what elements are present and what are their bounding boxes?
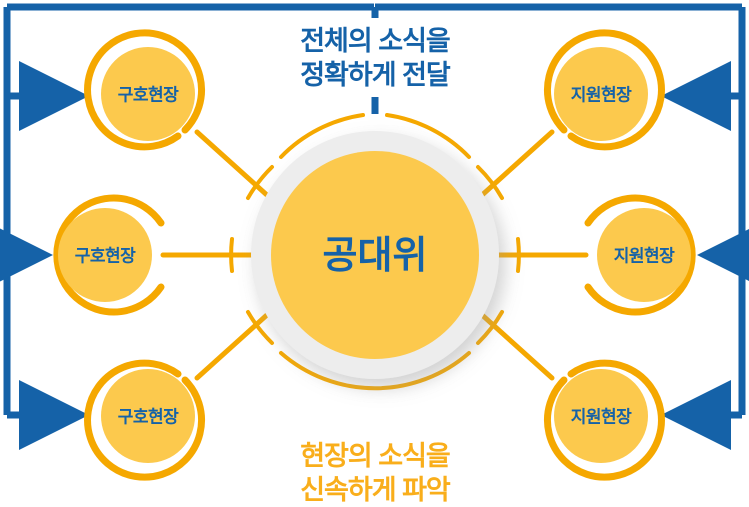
node-left-middle-label: 구호현장: [75, 246, 136, 265]
connector-right-bottom-to-hub: [481, 314, 552, 378]
caption-top-line1: 전체의 소식을: [300, 26, 450, 56]
connector-right-top-to-hub: [481, 132, 552, 196]
caption-top-line2: 정확하게 전달: [300, 60, 451, 90]
node-left-middle[interactable]: 구호현장: [57, 198, 161, 312]
caption-bottom: 현장의 소식을 신속하게 파악: [300, 441, 451, 505]
hub-group[interactable]: 공대위: [231, 115, 519, 388]
node-right-middle[interactable]: 지원현장: [588, 198, 692, 312]
caption-bottom-line1: 현장의 소식을: [300, 441, 450, 471]
diagram-canvas: 공대위 구호현장 구호현장 구호현장 지원현장: [0, 0, 749, 507]
node-left-top[interactable]: 구호현장: [88, 33, 202, 147]
caption-top: 전체의 소식을 정확하게 전달: [300, 26, 451, 90]
diagram-svg: 공대위 구호현장 구호현장 구호현장 지원현장: [0, 0, 749, 507]
hub-label: 공대위: [323, 235, 428, 277]
hub-ring-arc-left: [231, 239, 232, 271]
node-right-bottom[interactable]: 지원현장: [547, 363, 661, 477]
node-left-top-label: 구호현장: [118, 85, 179, 104]
node-right-top-label: 지원현장: [571, 85, 632, 104]
node-right-bottom-label: 지원현장: [571, 407, 632, 426]
node-right-top[interactable]: 지원현장: [547, 33, 661, 147]
caption-bottom-line2: 신속하게 파악: [300, 475, 451, 505]
hub-ring-arc-right: [518, 239, 519, 271]
node-right-middle-label: 지원현장: [614, 246, 675, 265]
node-left-bottom-label: 구호현장: [118, 407, 179, 426]
node-left-bottom[interactable]: 구호현장: [88, 363, 202, 477]
